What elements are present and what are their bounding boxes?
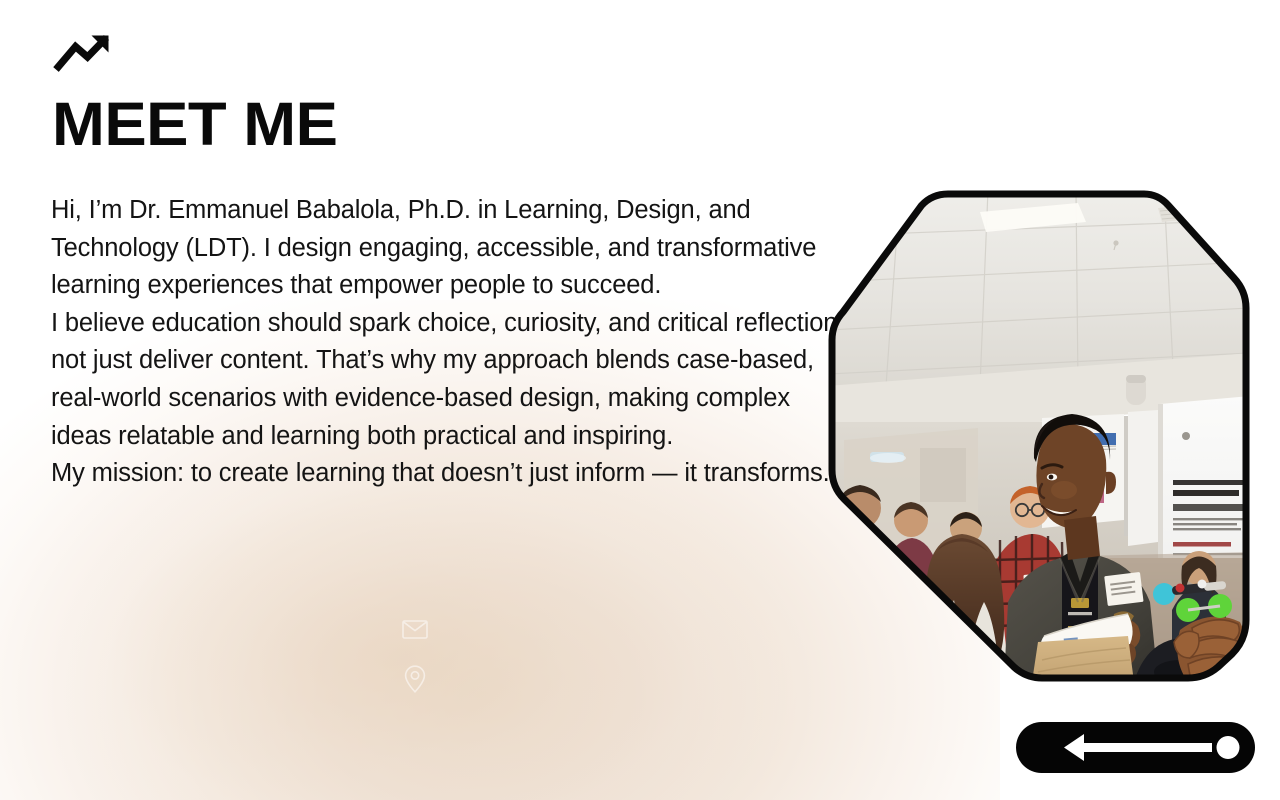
arrow-left-icon [1064, 734, 1212, 761]
background-gradient-accent [60, 470, 820, 800]
back-navigation-button[interactable] [1016, 722, 1255, 773]
slide-canvas: MEET ME Hi, I’m Dr. Emmanuel Babalola, P… [0, 0, 1280, 800]
page-title: MEET ME [52, 94, 337, 155]
trending-up-icon [53, 32, 115, 74]
bio-paragraph: My mission: to create learning that does… [51, 455, 851, 493]
mail-icon [402, 620, 428, 639]
bio-text: Hi, I’m Dr. Emmanuel Babalola, Ph.D. in … [51, 192, 851, 493]
bio-paragraph: I believe education should spark choice,… [51, 305, 851, 455]
profile-photo [828, 190, 1250, 682]
progress-dot [1217, 736, 1240, 759]
bio-paragraph: Hi, I’m Dr. Emmanuel Babalola, Ph.D. in … [51, 192, 851, 305]
location-pin-icon [404, 665, 426, 693]
